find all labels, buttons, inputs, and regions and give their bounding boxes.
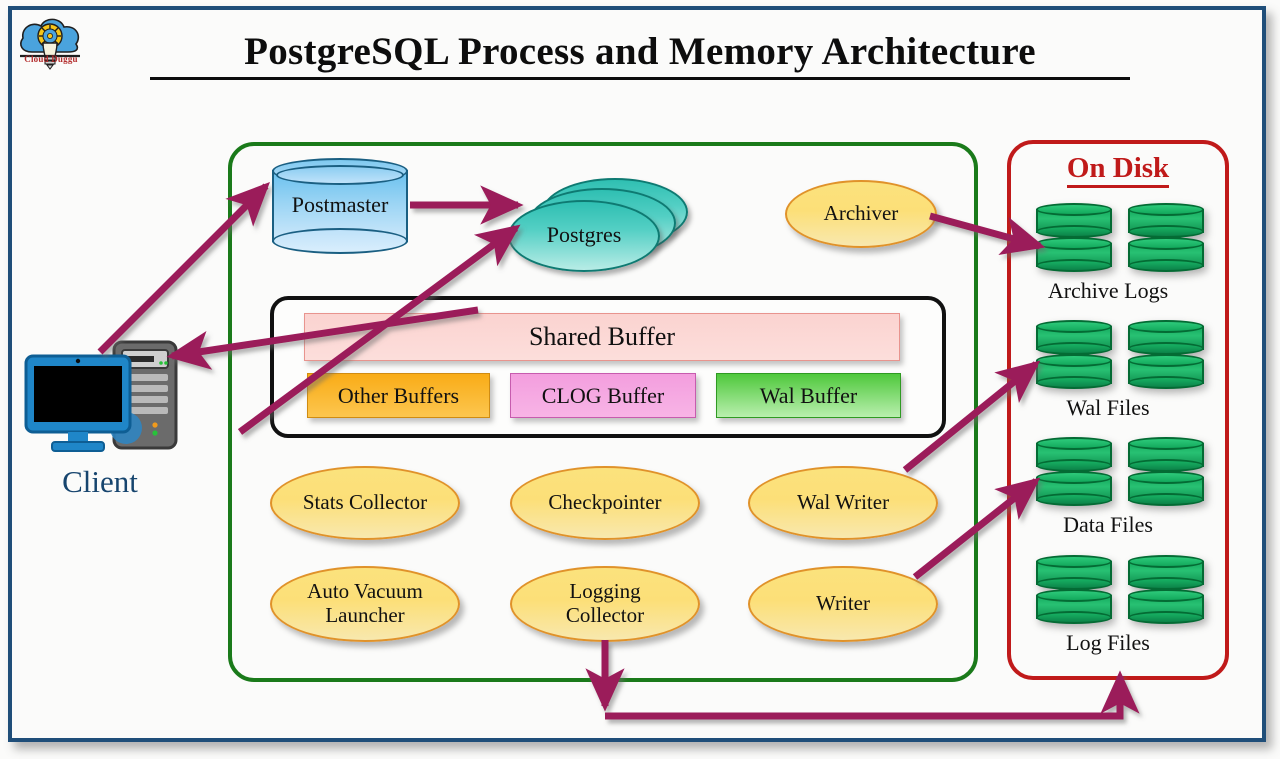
disk-cylinder xyxy=(1128,555,1204,589)
client-label: Client xyxy=(10,464,190,500)
disk-cylinder xyxy=(1036,437,1112,471)
disk-column xyxy=(1128,320,1204,392)
disk-column xyxy=(1128,203,1204,275)
client-icon[interactable] xyxy=(18,330,188,460)
disk-cylinder xyxy=(1036,237,1112,271)
auto-vacuum-launcher-node[interactable]: Auto Vacuum Launcher xyxy=(270,566,460,642)
logging-collector-line1: Logging xyxy=(566,580,644,604)
disk-cylinder xyxy=(1128,437,1204,471)
page-title: PostgreSQL Process and Memory Architectu… xyxy=(150,32,1130,80)
disk-cylinder xyxy=(1036,555,1112,589)
logo-text: Cloud Duggu xyxy=(16,54,86,64)
disk-group-label: Wal Files xyxy=(1008,395,1208,421)
disk-column xyxy=(1128,437,1204,509)
disk-cylinder xyxy=(1128,471,1204,505)
disk-group-wal-files[interactable]: Wal Files xyxy=(1008,320,1208,421)
disk-row xyxy=(1018,437,1198,509)
postmaster-node[interactable]: Postmaster xyxy=(272,158,408,254)
postgres-label: Postgres xyxy=(508,222,660,248)
disk-cylinder xyxy=(1128,320,1204,354)
cylinder-rim xyxy=(276,165,404,185)
auto-vacuum-line1: Auto Vacuum xyxy=(307,580,423,604)
disk-cylinder xyxy=(1036,320,1112,354)
disk-column xyxy=(1036,320,1112,392)
diagram-page: Cloud Duggu PostgreSQL Process and Memor… xyxy=(0,0,1280,759)
disk-group-log-files[interactable]: Log Files xyxy=(1008,555,1208,656)
cloud-duggu-logo[interactable]: Cloud Duggu xyxy=(14,10,86,72)
cylinder-bottom xyxy=(272,228,408,254)
clog-buffer-node[interactable]: CLOG Buffer xyxy=(510,373,696,418)
disk-column xyxy=(1036,555,1112,627)
client-computer-icon xyxy=(18,330,188,460)
writer-node[interactable]: Writer xyxy=(748,566,938,642)
logging-collector-line2: Collector xyxy=(566,604,644,628)
disk-group-archive-logs[interactable]: Archive Logs xyxy=(1008,203,1208,304)
disk-cylinder xyxy=(1036,354,1112,388)
wal-buffer-node[interactable]: Wal Buffer xyxy=(716,373,901,418)
disk-column xyxy=(1036,437,1112,509)
disk-column xyxy=(1036,203,1112,275)
disk-group-label: Data Files xyxy=(1008,512,1208,538)
other-buffers-node[interactable]: Other Buffers xyxy=(307,373,490,418)
postgres-node[interactable]: Postgres xyxy=(508,178,688,274)
postmaster-label: Postmaster xyxy=(272,192,408,218)
checkpointer-node[interactable]: Checkpointer xyxy=(510,466,700,540)
disk-row xyxy=(1018,203,1198,275)
disk-cylinder xyxy=(1128,237,1204,271)
disk-cylinder xyxy=(1128,589,1204,623)
disk-cylinder xyxy=(1036,471,1112,505)
disk-group-data-files[interactable]: Data Files xyxy=(1008,437,1208,538)
disk-cylinder xyxy=(1036,203,1112,237)
disk-group-label: Log Files xyxy=(1008,630,1208,656)
archiver-node[interactable]: Archiver xyxy=(785,180,937,248)
logging-collector-node[interactable]: Logging Collector xyxy=(510,566,700,642)
wal-writer-node[interactable]: Wal Writer xyxy=(748,466,938,540)
disk-row xyxy=(1018,555,1198,627)
shared-buffer-node[interactable]: Shared Buffer xyxy=(304,313,900,361)
stats-collector-node[interactable]: Stats Collector xyxy=(270,466,460,540)
on-disk-label: On Disk xyxy=(1067,152,1169,188)
disk-cylinder xyxy=(1128,354,1204,388)
disk-group-label: Archive Logs xyxy=(1008,278,1208,304)
disk-cylinder xyxy=(1036,589,1112,623)
disk-cylinder xyxy=(1128,203,1204,237)
disk-column xyxy=(1128,555,1204,627)
auto-vacuum-line2: Launcher xyxy=(307,604,423,628)
disk-row xyxy=(1018,320,1198,392)
on-disk-title: On Disk xyxy=(1007,152,1229,185)
